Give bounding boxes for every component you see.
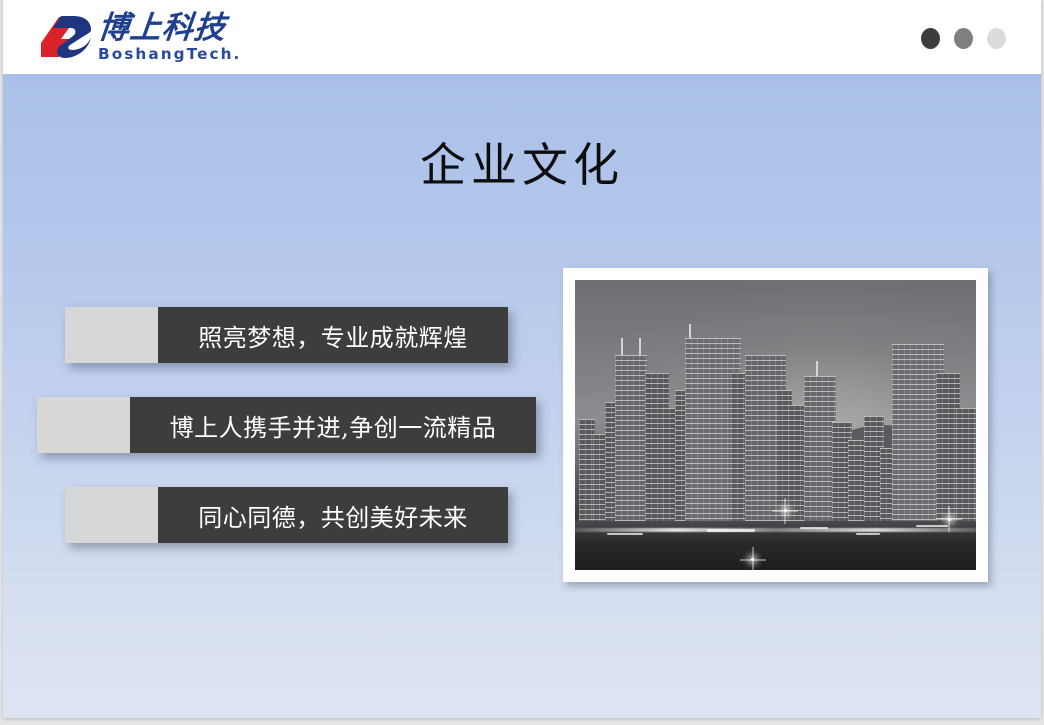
slide-header: 博上科技 BoshangTech.: [3, 0, 1041, 74]
boshang-logo-mark: [39, 13, 93, 61]
slide-body: 企业文化 照亮梦想，专业成就辉煌 博上人携手并进,争创一流精品 同心同德，共创美…: [3, 74, 1041, 718]
city-skyline-night-photo: [575, 280, 976, 570]
slogan-text: 照亮梦想，专业成就辉煌: [158, 307, 508, 363]
slogan-swatch: [65, 307, 158, 363]
building: [615, 355, 647, 523]
photo-frame: [563, 268, 988, 582]
page-title: 企业文化: [3, 129, 1041, 195]
logo-company-name-cn: 博上科技: [96, 13, 240, 44]
slogan-bar: 博上人携手并进,争创一流精品: [37, 397, 536, 453]
antenna: [639, 338, 641, 355]
building: [956, 408, 976, 524]
street-light-flare: [784, 509, 787, 512]
antenna: [689, 324, 691, 339]
slogan-text: 博上人携手并进,争创一流精品: [130, 397, 536, 453]
light-trail: [575, 528, 976, 532]
slogan-bar: 照亮梦想，专业成就辉煌: [65, 307, 508, 363]
logo-company-name-en: BoshangTech.: [98, 47, 241, 62]
slogan-bar: 同心同德，共创美好未来: [65, 487, 508, 543]
slogan-text: 同心同德，共创美好未来: [158, 487, 508, 543]
company-logo: 博上科技 BoshangTech.: [39, 11, 239, 63]
slogan-swatch: [65, 487, 158, 543]
city-light: [707, 529, 755, 532]
slogan-swatch: [37, 397, 130, 453]
header-dot-indicators: [921, 28, 1006, 49]
antenna: [816, 361, 818, 376]
dot-medium: [954, 28, 973, 49]
dot-light: [987, 28, 1006, 49]
antenna: [621, 338, 623, 355]
city-light: [856, 533, 880, 535]
street-light-flare: [948, 518, 951, 521]
city-light: [607, 533, 643, 535]
logo-wordmark: 博上科技 BoshangTech.: [98, 13, 239, 62]
city-light: [916, 525, 948, 527]
dot-dark: [921, 28, 940, 49]
slide: 博上科技 BoshangTech. 企业文化 照亮梦想，专业成就辉煌 博上人携手…: [3, 0, 1041, 718]
